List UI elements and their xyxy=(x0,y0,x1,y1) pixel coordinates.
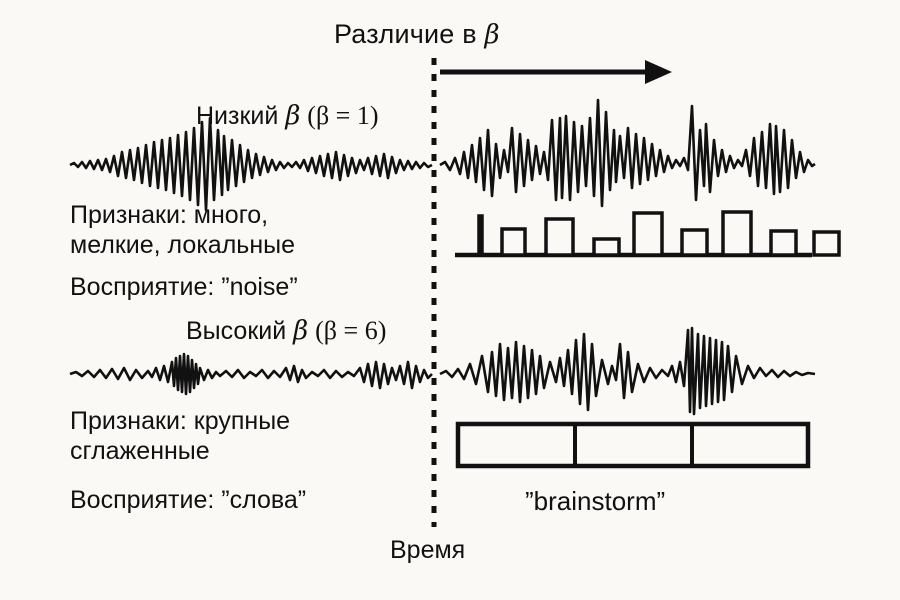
feature-box-outer xyxy=(458,424,808,466)
high-beta-signal-left xyxy=(70,354,432,394)
feature-bar xyxy=(682,230,707,255)
high-beta-signal-right xyxy=(440,328,815,414)
figure-vector-layer xyxy=(0,0,900,600)
low-beta-feature-bars xyxy=(455,212,839,255)
feature-bar xyxy=(479,216,482,255)
feature-bar xyxy=(723,212,751,255)
high-beta-feature-box xyxy=(458,424,808,466)
feature-bar xyxy=(771,231,796,255)
feature-bar xyxy=(634,213,662,255)
low-beta-signal-left xyxy=(70,118,432,210)
figure-root: Различие в β Низкий β (β = 1) Признаки: … xyxy=(0,0,900,600)
feature-bar xyxy=(502,229,525,255)
low-beta-signal-right xyxy=(440,100,815,206)
time-direction-arrow xyxy=(440,60,672,84)
feature-bar xyxy=(594,239,619,255)
feature-bar xyxy=(546,219,573,255)
feature-bar xyxy=(814,232,839,255)
